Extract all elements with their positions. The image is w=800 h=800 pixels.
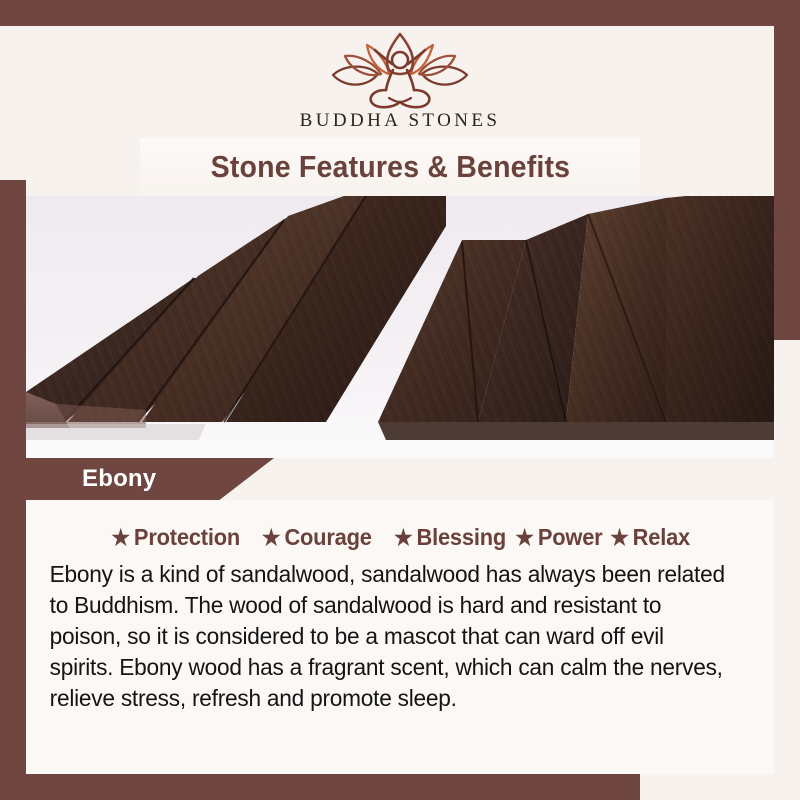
feature-item-protection: ★ Protection xyxy=(111,524,240,551)
feature-item-blessing: ★ Blessing xyxy=(394,524,506,551)
feature-label: Relax xyxy=(633,524,690,551)
feature-label: Blessing xyxy=(416,524,506,551)
star-icon: ★ xyxy=(610,527,629,549)
star-icon: ★ xyxy=(515,527,534,549)
feature-label: Protection xyxy=(133,524,239,551)
lotus-meditation-logo-icon xyxy=(315,28,485,112)
brand-name: BUDDHA STONES xyxy=(300,110,501,132)
page-title: Stone Features & Benefits xyxy=(210,149,570,185)
content-bottom-spacer xyxy=(26,752,774,774)
page-inner: BUDDHA STONES Stone Features & Benefits xyxy=(26,26,774,774)
brand-header: BUDDHA STONES xyxy=(26,26,774,138)
star-icon: ★ xyxy=(394,527,413,549)
feature-item-courage: ★ Courage xyxy=(262,524,372,551)
stone-features-card: BUDDHA STONES Stone Features & Benefits xyxy=(0,0,800,800)
feature-list: ★ Protection ★ Courage ★ Blessing ★ Powe… xyxy=(40,524,760,551)
stone-name-banner: Ebony xyxy=(26,458,274,500)
feature-item-relax: ★ Relax xyxy=(610,524,690,551)
title-banner: Stone Features & Benefits xyxy=(140,138,640,196)
star-icon: ★ xyxy=(262,527,281,549)
hero-image xyxy=(26,196,774,458)
stone-name-label: Ebony xyxy=(82,465,156,493)
content-panel: ★ Protection ★ Courage ★ Blessing ★ Powe… xyxy=(26,500,774,774)
star-icon: ★ xyxy=(111,527,130,549)
stone-description: Ebony is a kind of sandalwood, sandalwoo… xyxy=(40,559,735,714)
feature-label: Courage xyxy=(284,524,371,551)
feature-item-power: ★ Power xyxy=(515,524,602,551)
bottom-bar-notch xyxy=(600,774,640,800)
feature-label: Power xyxy=(537,524,602,551)
